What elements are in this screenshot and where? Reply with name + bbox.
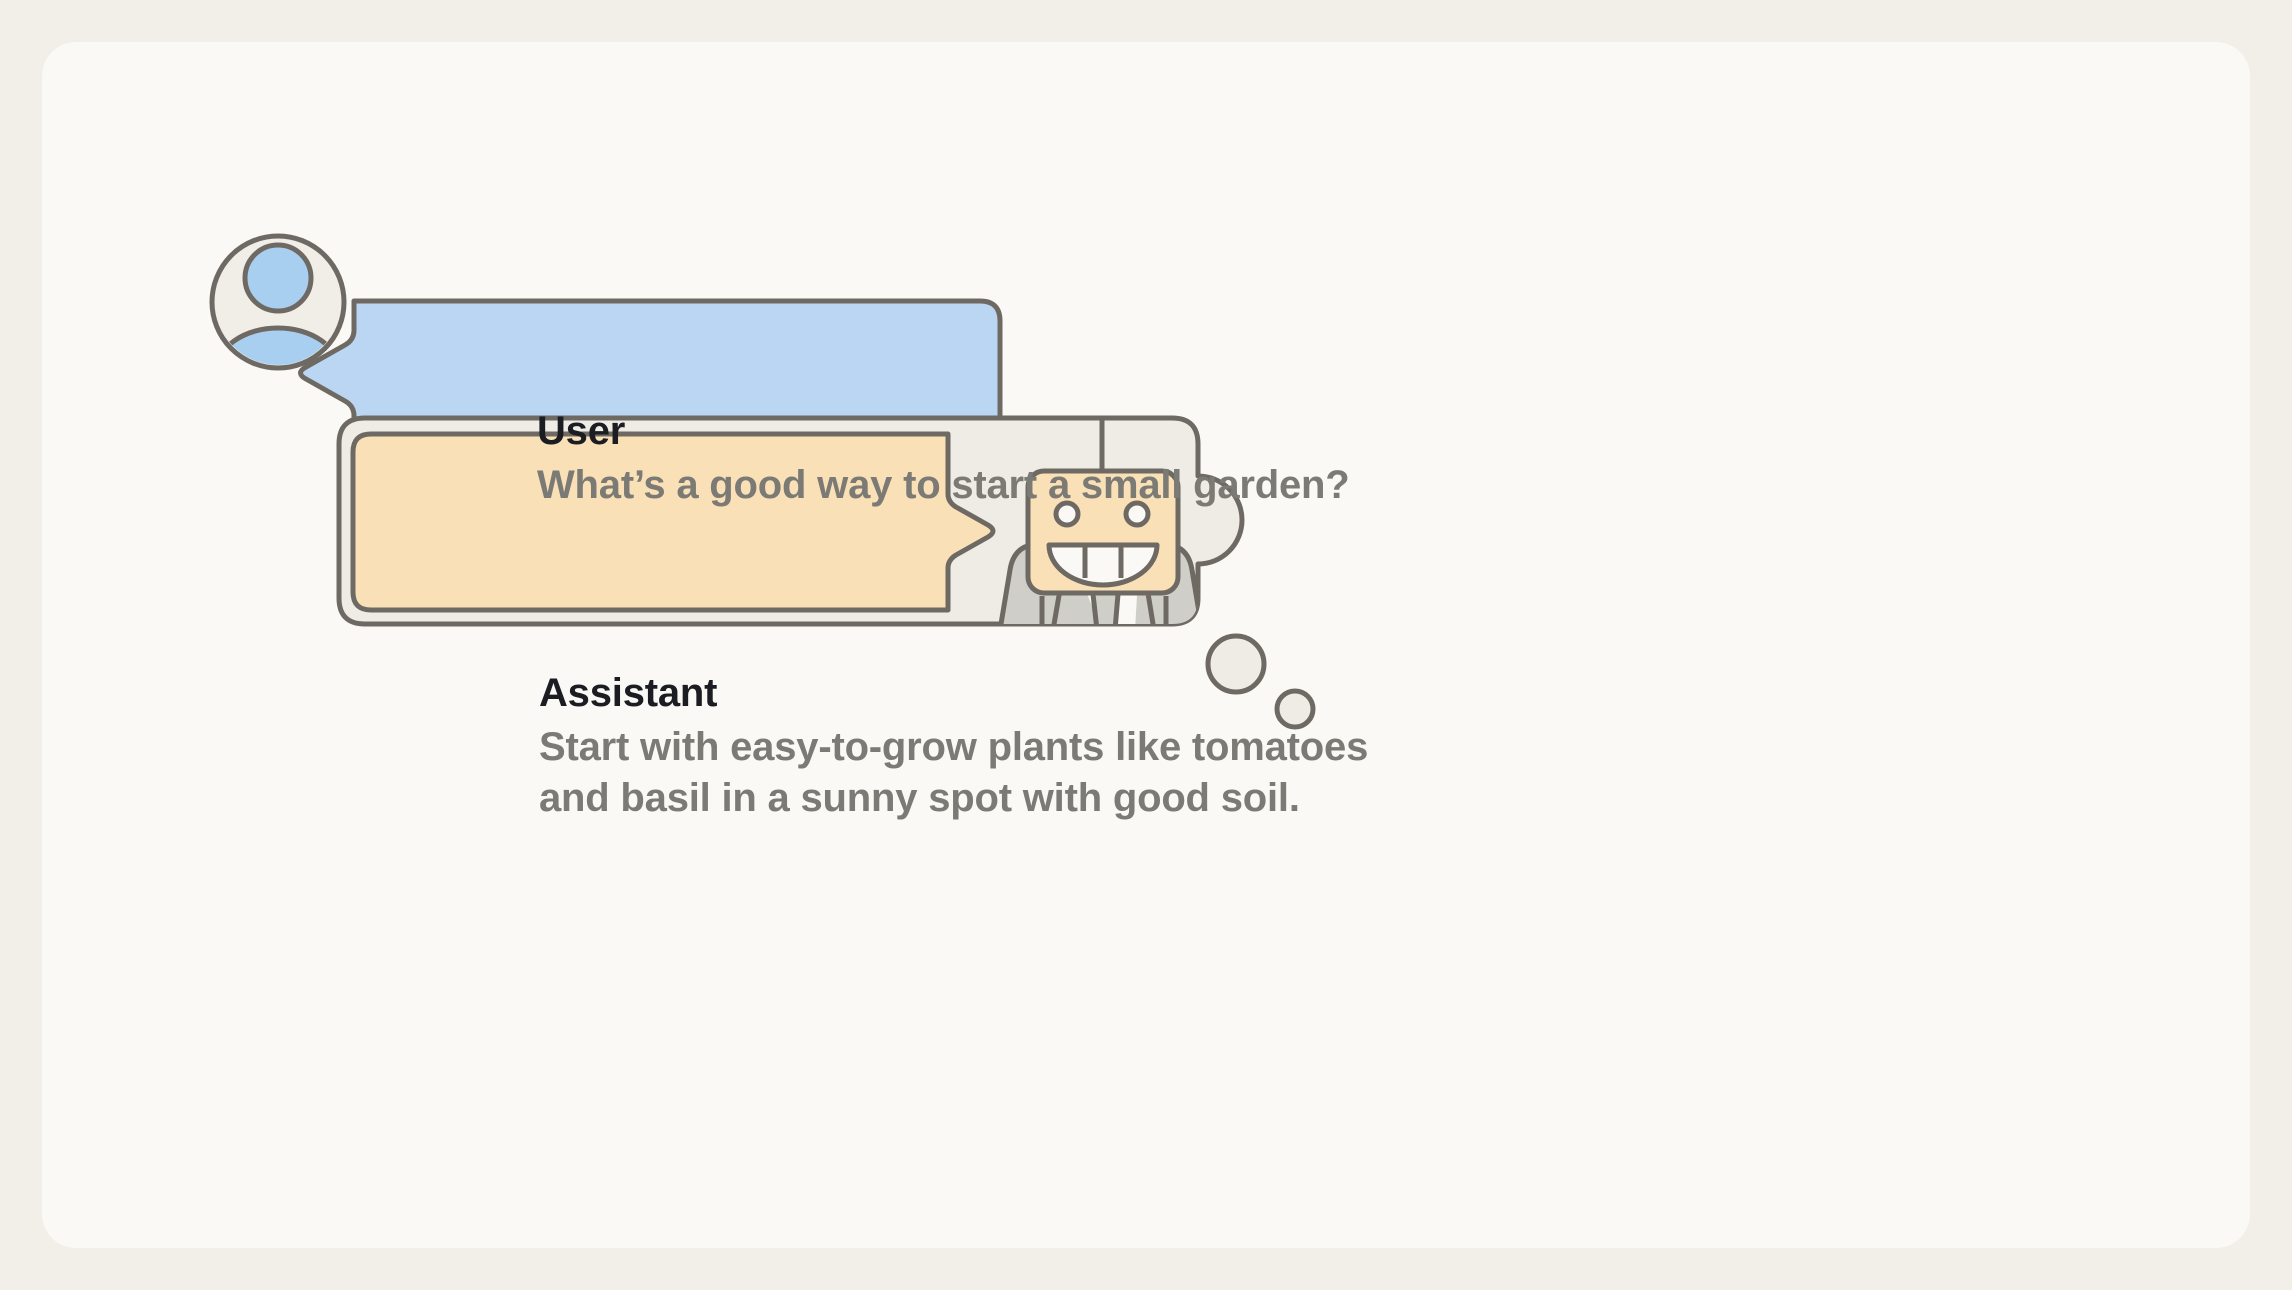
- robot-eye-left: [1056, 503, 1078, 525]
- assistant-bubble[interactable]: [353, 434, 993, 610]
- thought-circle-large: [1208, 636, 1264, 692]
- assistant-message-row: [339, 418, 1313, 727]
- robot-eye-right: [1126, 503, 1148, 525]
- avatar-head: [245, 245, 311, 311]
- page-root: User What’s a good way to start a small …: [0, 0, 2292, 1290]
- conversation-stage: User What’s a good way to start a small …: [42, 42, 2250, 1248]
- conversation-illustration: [42, 42, 2250, 1248]
- thought-circle-small: [1277, 691, 1313, 727]
- illustration-card: User What’s a good way to start a small …: [42, 42, 2250, 1248]
